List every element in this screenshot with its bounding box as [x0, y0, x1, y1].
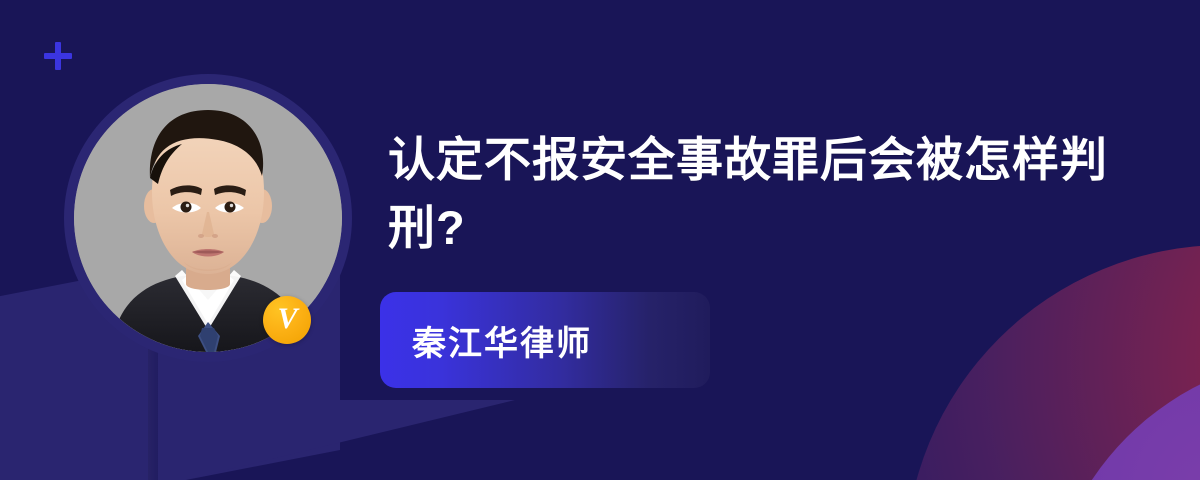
page-title: 认定不报安全事故罪后会被怎样判刑? [388, 126, 1108, 262]
lawyer-name-badge[interactable]: 秦江华律师 [380, 292, 710, 388]
lawyer-question-banner: V 认定不报安全事故罪后会被怎样判刑? 秦江华律师 [0, 0, 1200, 480]
verified-badge-letter: V [277, 304, 296, 334]
text-content: 认定不报安全事故罪后会被怎样判刑? [388, 126, 1108, 262]
avatar: V [64, 74, 352, 362]
lawyer-name-label: 秦江华律师 [412, 316, 592, 365]
verified-v-icon: V [263, 296, 311, 344]
diagonal-triangle-shape-2 [185, 400, 515, 480]
plus-icon [44, 42, 72, 70]
